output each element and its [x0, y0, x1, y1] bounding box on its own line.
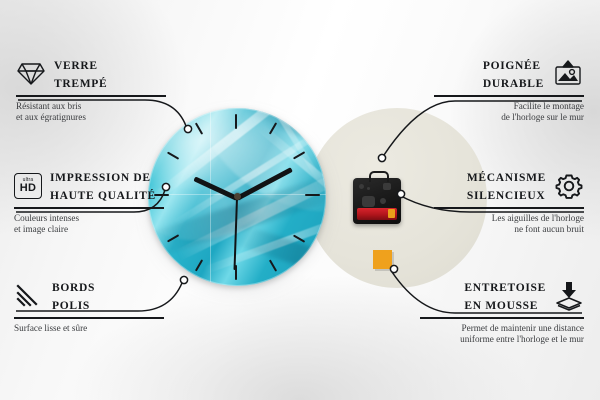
feature-title-line1: IMPRESSION DE — [50, 172, 151, 184]
foam-spacer-icon — [554, 281, 584, 311]
mechanism-hanger-tab — [369, 171, 389, 182]
feature-impression-haute-qualite[interactable]: ultra HD IMPRESSION DE HAUTE QUALITÉ Cou… — [14, 168, 164, 235]
feature-entretoise-en-mousse[interactable]: ENTRETOISE EN MOUSSE Permet de maintenir… — [420, 278, 584, 345]
divider — [434, 95, 584, 97]
feature-bords-polis[interactable]: BORDS POLIS Surface lisse et sûre — [14, 278, 164, 334]
feature-title-line2: TREMPÉ — [54, 78, 107, 90]
feature-desc-line2: de l'horloge sur le mur — [434, 112, 584, 123]
connector-dot — [180, 276, 187, 283]
feature-title-line1: BORDS — [52, 282, 95, 294]
feature-desc-line1: Surface lisse et sûre — [14, 323, 164, 334]
feature-title-line1: ENTRETOISE — [464, 282, 546, 294]
feature-desc-line1: Facilite le montage — [434, 101, 584, 112]
clock-marker — [269, 259, 278, 271]
feature-title-line2: DURABLE — [483, 78, 544, 90]
feature-title-line1: POIGNÉE — [483, 60, 541, 72]
feature-mecanisme-silencieux[interactable]: MÉCANISME SILENCIEUX Les aiguilles de l'… — [434, 168, 584, 235]
feature-desc-line1: Les aiguilles de l'horloge — [434, 213, 584, 224]
feature-poignee-durable[interactable]: POIGNÉE DURABLE Facilite le montage de l… — [434, 56, 584, 123]
clock-mechanism — [353, 178, 401, 224]
feature-title-line2: EN MOUSSE — [464, 300, 538, 312]
feature-desc-line1: Couleurs intenses — [14, 213, 164, 224]
battery-terminal — [388, 209, 395, 218]
divider — [420, 317, 584, 319]
clock-center-hub — [234, 193, 241, 200]
mechanism-battery — [357, 208, 397, 220]
feature-desc-line2: ne font aucun bruit — [434, 224, 584, 235]
clock-face — [148, 108, 326, 286]
feature-desc-line1: Résistant aux bris — [16, 101, 166, 112]
feature-title-line1: VERRE — [54, 60, 98, 72]
divider — [14, 317, 164, 319]
feature-desc-line2: et image claire — [14, 224, 164, 235]
feature-desc-line1: Permet de maintenir une distance — [420, 323, 584, 334]
feature-desc-line2: et aux égratignures — [16, 112, 166, 123]
feature-title-line1: MÉCANISME — [467, 172, 546, 184]
feature-title-line2: POLIS — [52, 300, 90, 312]
diamond-icon — [16, 61, 46, 87]
infographic-canvas: VERRE TREMPÉ Résistant aux bris et aux é… — [0, 0, 600, 400]
gear-icon — [554, 172, 584, 200]
foam-spacer-pad — [373, 250, 392, 269]
polished-edges-icon — [14, 283, 44, 309]
ultra-hd-icon-bottom-text: HD — [20, 183, 37, 194]
ultra-hd-icon: ultra HD — [14, 173, 42, 199]
divider — [434, 207, 584, 209]
divider — [16, 95, 166, 97]
feature-title-line2: HAUTE QUALITÉ — [50, 190, 156, 202]
picture-hanger-icon — [552, 60, 584, 88]
divider — [14, 207, 164, 209]
feature-desc-line2: uniforme entre l'horloge et le mur — [420, 334, 584, 345]
feature-title-line2: SILENCIEUX — [467, 190, 546, 202]
feature-verre-trempe[interactable]: VERRE TREMPÉ Résistant aux bris et aux é… — [16, 56, 166, 123]
